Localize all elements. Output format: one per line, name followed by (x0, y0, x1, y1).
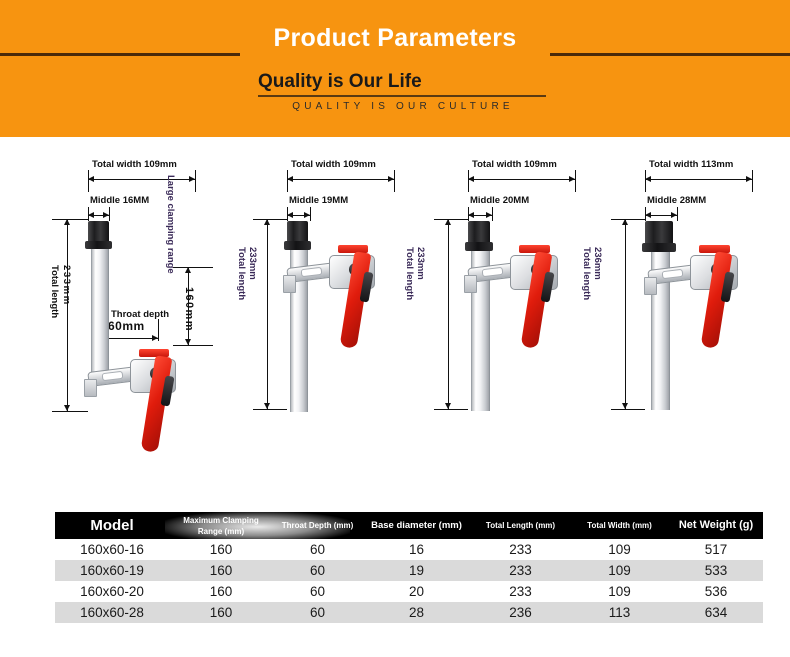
cell-base-diameter: 20 (362, 581, 471, 602)
diagram-3-knob-collar (465, 242, 493, 251)
diagram-1-slide-bar (91, 249, 109, 375)
specs-table-body: 160x60-16 160 60 16 233 109 517 160x60-1… (55, 539, 763, 623)
diagram-3-middle-arrow-left (468, 212, 474, 218)
diagram-4-total-width-label: Total width 113mm (649, 159, 733, 170)
cell-model: 160x60-16 (55, 539, 169, 560)
cell-total-width: 113 (570, 602, 669, 623)
diagram-panel-1: Total width 109mm Middle 16MM Total leng… (30, 137, 235, 505)
col-header-throat-depth: Throat Depth (mm) (273, 512, 362, 539)
diagram-1-throat-tick-right (158, 319, 159, 341)
diagram-2-length-tick-bottom (253, 409, 287, 410)
cell-throat-depth: 60 (273, 539, 362, 560)
cell-net-weight: 533 (669, 560, 763, 581)
cell-model: 160x60-19 (55, 560, 169, 581)
header-subtitle-block: Quality is Our Life QUALITY IS OUR CULTU… (258, 70, 548, 112)
diagram-1-throat-arrow-right (152, 335, 158, 341)
specs-table-wrapper: Model Maximum Clamping Range (mm) Throat… (55, 512, 735, 623)
diagram-2-length-tick-top (253, 219, 287, 220)
specs-table: Model Maximum Clamping Range (mm) Throat… (55, 512, 763, 623)
col-header-total-length: Total Length (mm) (471, 512, 570, 539)
diagram-1-width-tick-right (195, 170, 196, 192)
diagram-4-middle-tick-right (677, 207, 678, 221)
diagram-panel-3: Total width 109mm Middle 20MM Total leng… (412, 137, 590, 505)
header-subtitle: Quality is Our Life (258, 70, 548, 94)
diagram-1-length-tick-bottom (52, 411, 88, 412)
diagram-4-red-cap (699, 245, 730, 253)
col-header-base-diameter: Base diameter (mm) (362, 512, 471, 539)
diagram-1-length-tick-top (52, 219, 88, 220)
diagram-3-middle-label: Middle 20MM (470, 195, 529, 206)
diagram-2-width-arrow-left (287, 176, 293, 182)
header-banner: Product Parameters Quality is Our Life Q… (0, 0, 790, 137)
cell-total-length: 233 (471, 581, 570, 602)
diagram-4-total-length-label: Total length (581, 247, 592, 300)
diagram-4-length-arrow-up (622, 219, 628, 225)
cell-total-width: 109 (570, 539, 669, 560)
diagram-2-length-arrow-up (264, 219, 270, 225)
table-row: 160x60-19 160 60 19 233 109 533 (55, 560, 763, 581)
diagram-3-total-length-value: 233mm (415, 247, 426, 280)
diagram-4-middle-label: Middle 28MM (647, 195, 706, 206)
diagram-3-width-arrow-right (569, 176, 575, 182)
diagram-1-middle-arrow-left (88, 212, 94, 218)
diagram-4-length-arrow-down (622, 403, 628, 409)
diagram-3-length-tick-bottom (434, 409, 468, 410)
cell-max-clamping: 160 (169, 602, 273, 623)
diagram-3-middle-tick-right (492, 207, 493, 221)
specs-table-head: Model Maximum Clamping Range (mm) Throat… (55, 512, 763, 539)
diagram-4-length-tick-bottom (611, 409, 645, 410)
col-header-total-width: Total Width (mm) (570, 512, 669, 539)
cell-max-clamping: 160 (169, 581, 273, 602)
diagram-1-knob (88, 221, 109, 243)
diagram-2-bar-foot (283, 275, 296, 293)
diagram-4-middle-arrow-right (671, 212, 677, 218)
diagram-3-length-tick-top (434, 219, 468, 220)
product-diagrams: Total width 109mm Middle 16MM Total leng… (0, 137, 790, 505)
diagram-2-knob-collar (284, 241, 311, 250)
diagram-1-clamping-range-value: 160mm (183, 287, 194, 332)
diagram-2-middle-arrow-left (287, 212, 293, 218)
table-row: 160x60-16 160 60 16 233 109 517 (55, 539, 763, 560)
diagram-1-knob-collar (85, 241, 112, 249)
col-header-net-weight: Net Weight (g) (669, 512, 763, 539)
diagram-1-total-length-value: 233mm (61, 265, 72, 306)
diagram-2-width-arrow-right (388, 176, 394, 182)
diagram-2-middle-arrow-right (304, 212, 310, 218)
diagram-panel-2: Total width 109mm Middle 19MM Total leng… (237, 137, 409, 505)
diagram-1-width-arrow-right (189, 176, 195, 182)
diagram-4-length-line (625, 219, 626, 409)
header-subtitle-rule (258, 95, 546, 97)
diagram-3-width-arrow-left (468, 176, 474, 182)
diagram-2-middle-tick-right (310, 207, 311, 221)
diagram-2-width-tick-right (394, 170, 395, 192)
diagram-3-bar-foot (464, 275, 477, 293)
cell-max-clamping: 160 (169, 539, 273, 560)
diagram-4-width-arrow-right (746, 176, 752, 182)
table-row: 160x60-20 160 60 20 233 109 536 (55, 581, 763, 602)
diagram-1-bar-foot (84, 379, 97, 397)
diagram-2-total-length-label: Total length (236, 247, 247, 300)
cell-throat-depth: 60 (273, 560, 362, 581)
diagram-3-knob (468, 221, 490, 244)
diagram-2-knob (287, 221, 308, 243)
diagram-4-length-tick-top (611, 219, 645, 220)
diagram-4-knob-collar (642, 243, 676, 252)
page-title: Product Parameters (0, 23, 790, 53)
cell-base-diameter: 19 (362, 560, 471, 581)
cell-base-diameter: 28 (362, 602, 471, 623)
table-header-row: Model Maximum Clamping Range (mm) Throat… (55, 512, 763, 539)
diagram-3-length-arrow-up (445, 219, 451, 225)
diagram-2-total-width-label: Total width 109mm (291, 159, 376, 170)
cell-throat-depth: 60 (273, 581, 362, 602)
header-rule-right (550, 53, 790, 56)
diagram-3-red-cap (519, 245, 550, 253)
table-row: 160x60-28 160 60 28 236 113 634 (55, 602, 763, 623)
diagram-1-range-tick-top (173, 267, 213, 268)
diagram-3-middle-arrow-right (486, 212, 492, 218)
col-header-max-clamping: Maximum Clamping Range (mm) (169, 512, 273, 539)
cell-max-clamping: 160 (169, 560, 273, 581)
diagram-3-length-arrow-down (445, 403, 451, 409)
diagram-1-range-arrow-up (185, 267, 191, 273)
cell-base-diameter: 16 (362, 539, 471, 560)
cell-model: 160x60-28 (55, 602, 169, 623)
header-rule-left (0, 53, 240, 56)
cell-total-length: 236 (471, 602, 570, 623)
cell-net-weight: 536 (669, 581, 763, 602)
diagram-1-length-arrow-down (64, 405, 70, 411)
diagram-4-middle-arrow-left (645, 212, 651, 218)
diagram-panel-4: Total width 113mm Middle 28MM Total leng… (596, 137, 786, 505)
diagram-1-range-arrow-down (185, 339, 191, 345)
diagram-1-width-arrow-left (88, 176, 94, 182)
diagram-4-bar-foot (644, 277, 657, 295)
diagram-4-total-length-value: 236mm (592, 247, 603, 280)
cell-net-weight: 517 (669, 539, 763, 560)
diagram-1-length-arrow-up (64, 219, 70, 225)
cell-total-width: 109 (570, 560, 669, 581)
cell-total-width: 109 (570, 581, 669, 602)
diagram-1-middle-tick-right (109, 207, 110, 221)
diagram-1-width-line (88, 179, 195, 180)
diagram-1-throat-depth-value: 60mm (108, 321, 145, 332)
diagram-3-length-line (448, 219, 449, 409)
diagram-2-middle-label: Middle 19MM (289, 195, 348, 206)
diagram-4-width-line (645, 179, 752, 180)
cell-total-length: 233 (471, 560, 570, 581)
diagram-1-total-length-label: Total length (49, 265, 60, 318)
diagram-1-length-line (67, 219, 68, 411)
diagram-3-width-line (468, 179, 575, 180)
diagram-3-total-width-label: Total width 109mm (472, 159, 557, 170)
diagram-2-length-line (267, 219, 268, 409)
diagram-2-total-length-value: 233mm (247, 247, 258, 280)
diagram-2-width-line (287, 179, 394, 180)
diagram-4-width-tick-right (752, 170, 753, 192)
diagram-1-total-width-label: Total width 109mm (92, 159, 177, 170)
col-header-model: Model (55, 512, 169, 539)
header-tagline: QUALITY IS OUR CULTURE (258, 101, 548, 112)
diagram-1-range-tick-bottom (173, 345, 213, 346)
diagram-3-width-tick-right (575, 170, 576, 192)
diagram-3-total-length-label: Total length (404, 247, 415, 300)
diagram-1-clamping-range-label: Large clamping range (165, 175, 176, 274)
diagram-1-middle-label: Middle 16MM (90, 195, 149, 206)
cell-net-weight: 634 (669, 602, 763, 623)
diagram-1-middle-arrow-right (103, 212, 109, 218)
diagram-2-length-arrow-down (264, 403, 270, 409)
diagram-4-width-arrow-left (645, 176, 651, 182)
cell-throat-depth: 60 (273, 602, 362, 623)
cell-model: 160x60-20 (55, 581, 169, 602)
cell-total-length: 233 (471, 539, 570, 560)
